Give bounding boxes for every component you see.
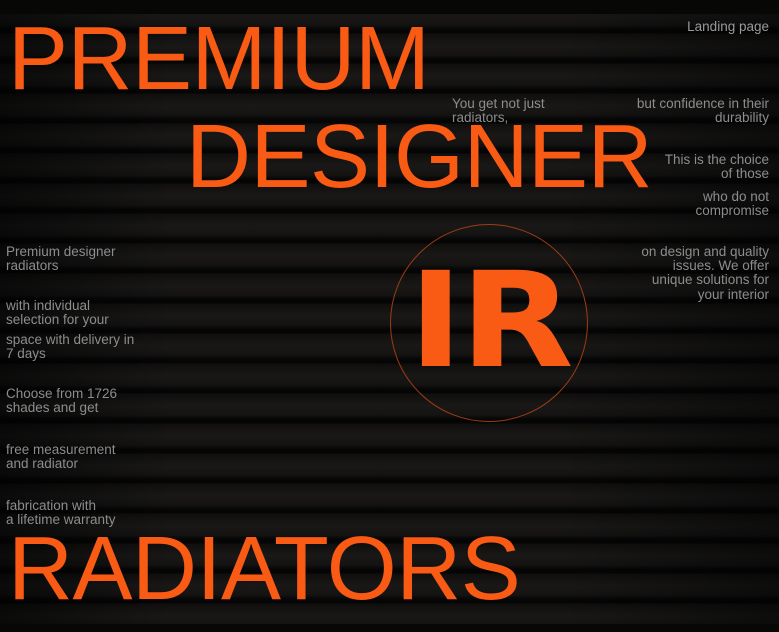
copy-space-delivery: space with delivery in 7 days <box>6 333 186 361</box>
brand-logo-circle: IR <box>390 224 588 422</box>
copy-intro-right: but confidence in their durability <box>619 97 769 125</box>
brand-logo-mark: IR <box>408 255 570 387</box>
hero-headline-radiators: RADIATORS <box>8 528 520 611</box>
hero-headline-designer: DESIGNER <box>186 116 652 199</box>
copy-premium-designer-radiators: Premium designer radiators <box>6 245 186 273</box>
copy-intro-left: You get not just radiators, <box>452 97 602 125</box>
landing-page-hero: PREMIUM DESIGNER RADIATORS Landing page … <box>0 0 779 632</box>
copy-free-measurement: free measurement and radiator <box>6 443 196 471</box>
hero-headline-premium: PREMIUM <box>8 18 430 101</box>
copy-shades-count: Choose from 1726 shades and get <box>6 387 196 415</box>
copy-choice: This is the choice of those <box>609 153 769 181</box>
copy-compromise: who do not compromise <box>609 190 769 218</box>
copy-design-quality: on design and quality issues. We offer u… <box>609 245 769 302</box>
bottom-edge-band <box>0 624 779 632</box>
page-tag-label: Landing page <box>687 20 769 34</box>
copy-fabrication-warranty: fabrication with a lifetime warranty <box>6 499 206 527</box>
copy-individual-selection: with individual selection for your <box>6 299 186 327</box>
